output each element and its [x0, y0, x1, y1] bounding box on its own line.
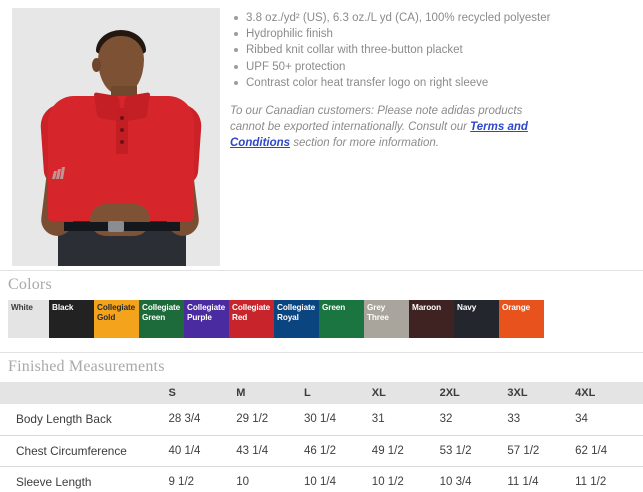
measurement-cell: 11 1/2: [575, 466, 643, 492]
measurement-cell: 53 1/2: [440, 435, 508, 466]
spec-item: Hydrophilic finish: [230, 26, 635, 42]
measurement-cell: 10 3/4: [440, 466, 508, 492]
table-header: S M L XL 2XL 3XL 4XL: [0, 382, 643, 404]
measurement-cell: 10 1/2: [372, 466, 440, 492]
measurement-cell: 29 1/2: [236, 404, 304, 435]
polo-button-bottom: [120, 140, 124, 144]
product-top-section: 3.8 oz./yd² (US), 6.3 oz./L yd (CA), 100…: [0, 0, 643, 270]
color-swatch[interactable]: Collegiate Green: [139, 300, 184, 338]
product-detail-page: 3.8 oz./yd² (US), 6.3 oz./L yd (CA), 100…: [0, 0, 643, 492]
color-swatch-label: Orange: [502, 303, 543, 313]
table-header-row: S M L XL 2XL 3XL 4XL: [0, 382, 643, 404]
measurement-cell: 28 3/4: [168, 404, 236, 435]
polo-button-middle: [120, 128, 124, 132]
color-swatch[interactable]: Collegiate Purple: [184, 300, 229, 338]
table-row: Sleeve Length 9 1/2 10 10 1/4 10 1/2 10 …: [0, 466, 643, 492]
row-label: Body Length Back: [0, 404, 168, 435]
color-swatch[interactable]: Grey Three: [364, 300, 409, 338]
color-swatch[interactable]: Collegiate Gold: [94, 300, 139, 338]
color-swatch-label: Collegiate Purple: [187, 303, 228, 322]
product-specs: 3.8 oz./yd² (US), 6.3 oz./L yd (CA), 100…: [220, 0, 643, 270]
measurement-cell: 33: [507, 404, 575, 435]
polo-button-top: [120, 116, 124, 120]
color-swatch-label: White: [11, 303, 48, 313]
measurement-cell: 40 1/4: [168, 435, 236, 466]
color-swatch[interactable]: Collegiate Royal: [274, 300, 319, 338]
measurement-cell: 49 1/2: [372, 435, 440, 466]
column-header-l: L: [304, 382, 372, 404]
table-row: Body Length Back 28 3/4 29 1/2 30 1/4 31…: [0, 404, 643, 435]
color-swatch-row: White Black Collegiate Gold Collegiate G…: [8, 300, 545, 338]
measurement-cell: 34: [575, 404, 643, 435]
spec-item: UPF 50+ protection: [230, 59, 635, 75]
model-belt-buckle: [108, 221, 124, 232]
note-text-after: section for more information.: [290, 137, 439, 149]
table-body: Body Length Back 28 3/4 29 1/2 30 1/4 31…: [0, 404, 643, 492]
color-swatch-label: Green: [322, 303, 363, 313]
measurements-heading: Finished Measurements: [0, 353, 643, 382]
model-ear: [92, 58, 101, 72]
finished-measurements-table: S M L XL 2XL 3XL 4XL Body Length Back 28…: [0, 382, 643, 492]
measurement-cell: 46 1/2: [304, 435, 372, 466]
column-header-blank: [0, 382, 168, 404]
spec-item: 3.8 oz./yd² (US), 6.3 oz./L yd (CA), 100…: [230, 10, 635, 26]
measurement-cell: 10 1/4: [304, 466, 372, 492]
canadian-customers-note: To our Canadian customers: Please note a…: [230, 103, 550, 151]
adidas-logo-icon: [52, 166, 66, 178]
column-header-3xl: 3XL: [507, 382, 575, 404]
measurement-cell: 10: [236, 466, 304, 492]
color-swatch[interactable]: Navy: [454, 300, 499, 338]
table-row: Chest Circumference 40 1/4 43 1/4 46 1/2…: [0, 435, 643, 466]
column-header-4xl: 4XL: [575, 382, 643, 404]
color-swatch[interactable]: Black: [49, 300, 94, 338]
measurement-cell: 11 1/4: [507, 466, 575, 492]
color-swatch-label: Collegiate Royal: [277, 303, 318, 322]
color-swatch-label: Collegiate Green: [142, 303, 183, 322]
color-swatch-label: Navy: [457, 303, 498, 313]
color-swatch-label: Grey Three: [367, 303, 408, 322]
measurement-cell: 9 1/2: [168, 466, 236, 492]
row-label: Chest Circumference: [0, 435, 168, 466]
measurement-cell: 30 1/4: [304, 404, 372, 435]
spec-list: 3.8 oz./yd² (US), 6.3 oz./L yd (CA), 100…: [230, 10, 635, 91]
color-swatch-label: Collegiate Gold: [97, 303, 138, 322]
spec-item: Contrast color heat transfer logo on rig…: [230, 75, 635, 91]
column-header-2xl: 2XL: [440, 382, 508, 404]
colors-section: White Black Collegiate Gold Collegiate G…: [0, 300, 643, 338]
column-header-xl: XL: [372, 382, 440, 404]
measurement-cell: 31: [372, 404, 440, 435]
color-swatch[interactable]: Orange: [499, 300, 544, 338]
measurement-cell: 62 1/4: [575, 435, 643, 466]
color-swatch-label: Collegiate Red: [232, 303, 273, 322]
color-swatch[interactable]: Green: [319, 300, 364, 338]
product-image[interactable]: [12, 8, 220, 266]
color-swatch-label: Black: [52, 303, 93, 313]
measurement-cell: 57 1/2: [507, 435, 575, 466]
column-header-s: S: [168, 382, 236, 404]
color-swatch-label: Maroon: [412, 303, 453, 313]
colors-heading: Colors: [0, 271, 643, 300]
column-header-m: M: [236, 382, 304, 404]
measurement-cell: 32: [440, 404, 508, 435]
spec-item: Ribbed knit collar with three-button pla…: [230, 42, 635, 58]
color-swatch[interactable]: Maroon: [409, 300, 454, 338]
color-swatch[interactable]: Collegiate Red: [229, 300, 274, 338]
measurement-cell: 43 1/4: [236, 435, 304, 466]
color-swatch[interactable]: White: [8, 300, 49, 338]
row-label: Sleeve Length: [0, 466, 168, 492]
